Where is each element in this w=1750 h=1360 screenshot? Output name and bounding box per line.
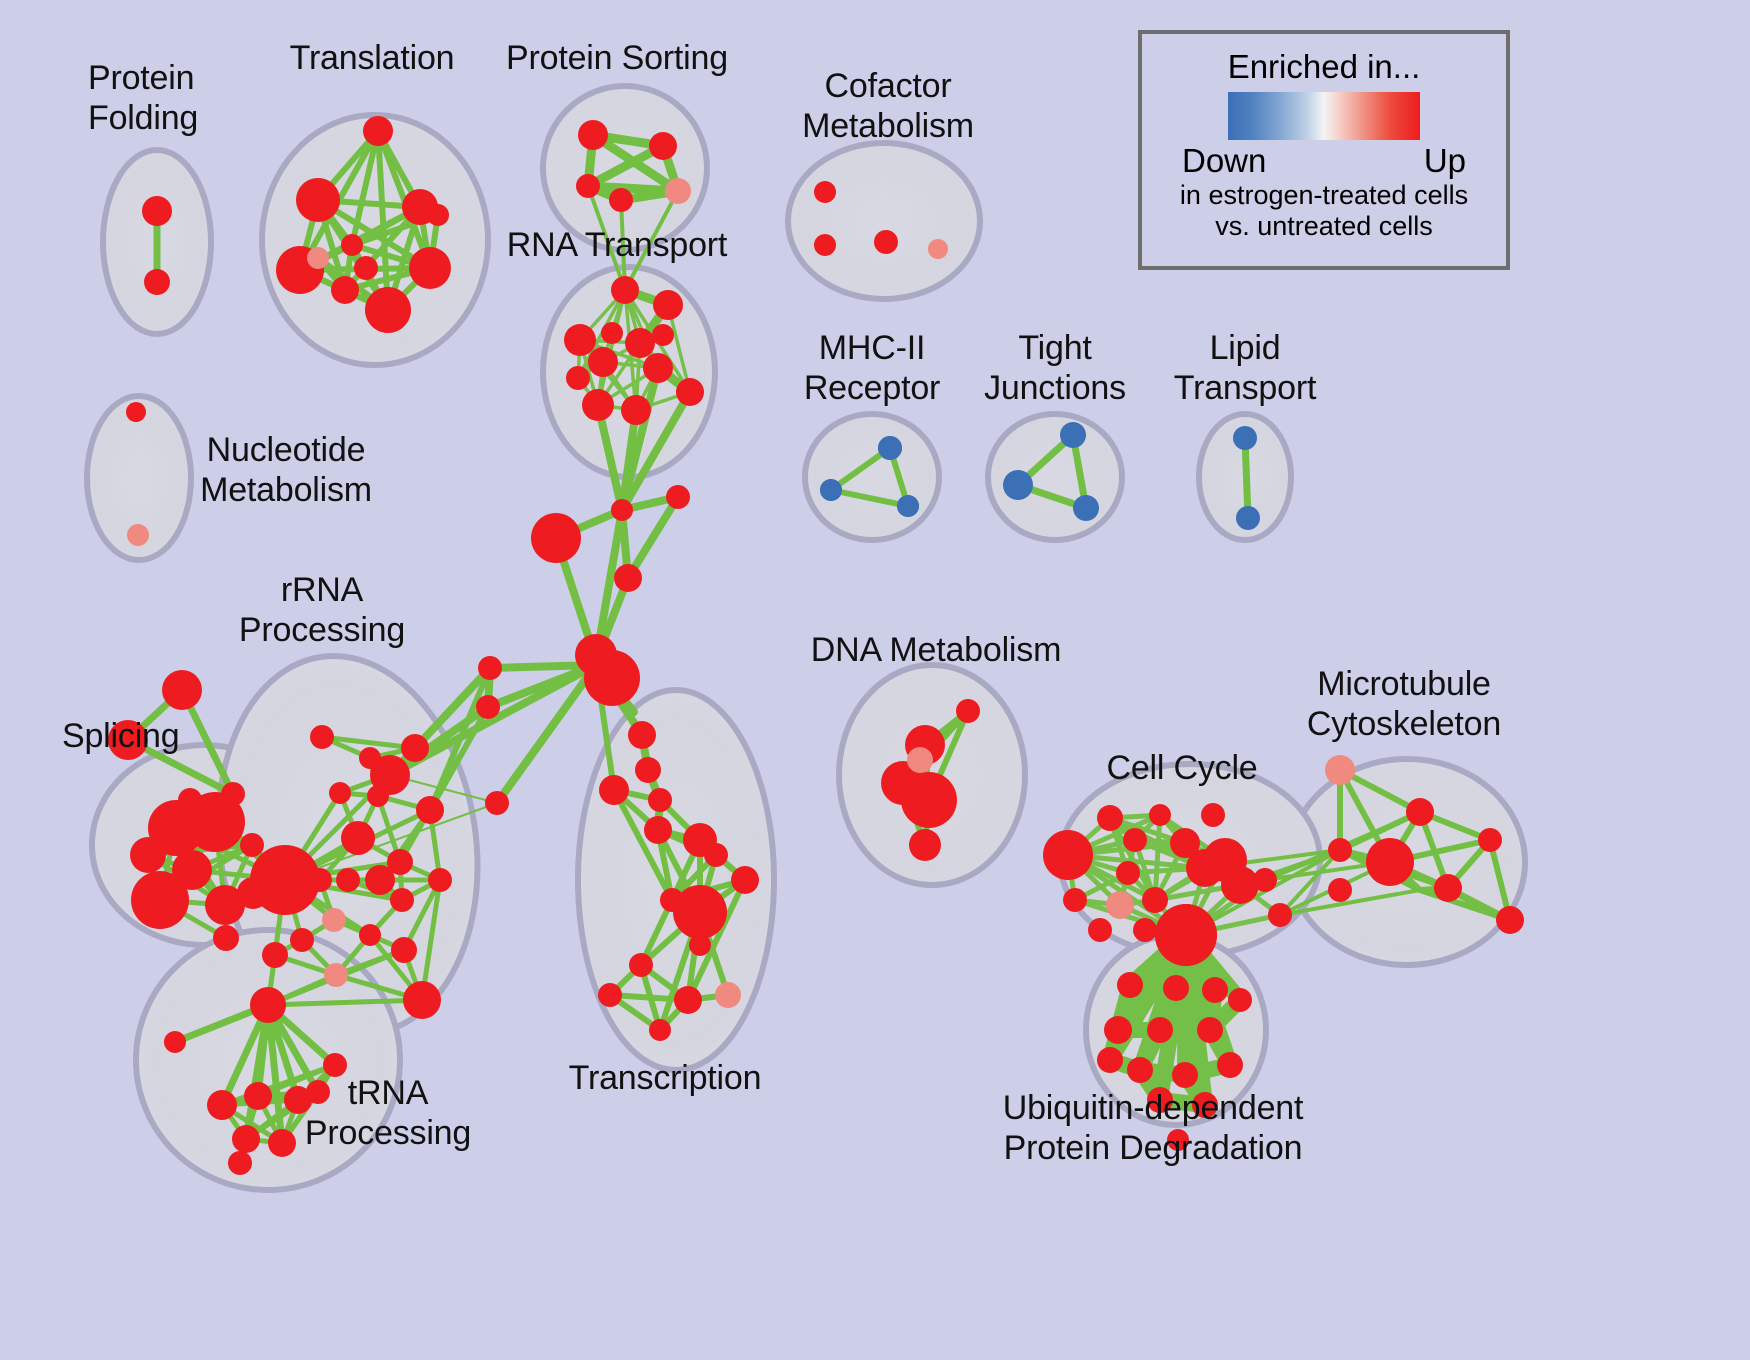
label-nucleotide-metabolism: Nucleotide Metabolism — [200, 430, 372, 510]
label-tight-junctions: Tight Junctions — [984, 328, 1126, 408]
halo-cofactor — [788, 143, 980, 299]
label-cell-cycle: Cell Cycle — [1106, 748, 1257, 788]
label-protein-sorting: Protein Sorting — [506, 38, 728, 78]
legend-color-gradient — [1228, 92, 1420, 140]
label-splicing: Splicing — [62, 716, 179, 756]
legend-title: Enriched in... — [1228, 48, 1421, 86]
halo-mhcii — [805, 414, 939, 540]
label-protein-folding: Protein Folding — [88, 58, 198, 138]
label-lipid-transport: Lipid Transport — [1174, 328, 1316, 408]
legend-panel: Enriched in... Down Up in estrogen-treat… — [1138, 30, 1510, 270]
legend-down-label: Down — [1182, 142, 1266, 180]
legend-caption-line1: in estrogen-treated cells — [1180, 180, 1468, 211]
legend-caption-line2: vs. untreated cells — [1215, 211, 1433, 242]
legend-up-label: Up — [1424, 142, 1466, 180]
label-trna-processing: tRNA Processing — [305, 1073, 471, 1153]
label-rrna-processing: rRNA Processing — [239, 570, 405, 650]
nodes-ubiquitin-hub — [1155, 904, 1217, 966]
label-mhc-ii-receptor: MHC-II Receptor — [804, 328, 940, 408]
label-cofactor-metabolism: Cofactor Metabolism — [802, 66, 974, 146]
label-transcription: Transcription — [569, 1058, 762, 1098]
label-ubiquitin-degradation: Ubiquitin-dependent Protein Degradation — [1003, 1088, 1304, 1168]
label-rna-transport: RNA Transport — [507, 225, 727, 265]
label-dna-metabolism: DNA Metabolism — [811, 630, 1061, 670]
label-translation: Translation — [290, 38, 455, 78]
enrichment-map-figure: Protein Folding Translation Protein Sort… — [0, 0, 1750, 1360]
legend-endpoints: Down Up — [1174, 142, 1474, 180]
edges-lipid-transport — [1245, 438, 1248, 518]
label-microtubule-cytoskeleton: Microtubule Cytoskeleton — [1307, 664, 1501, 744]
